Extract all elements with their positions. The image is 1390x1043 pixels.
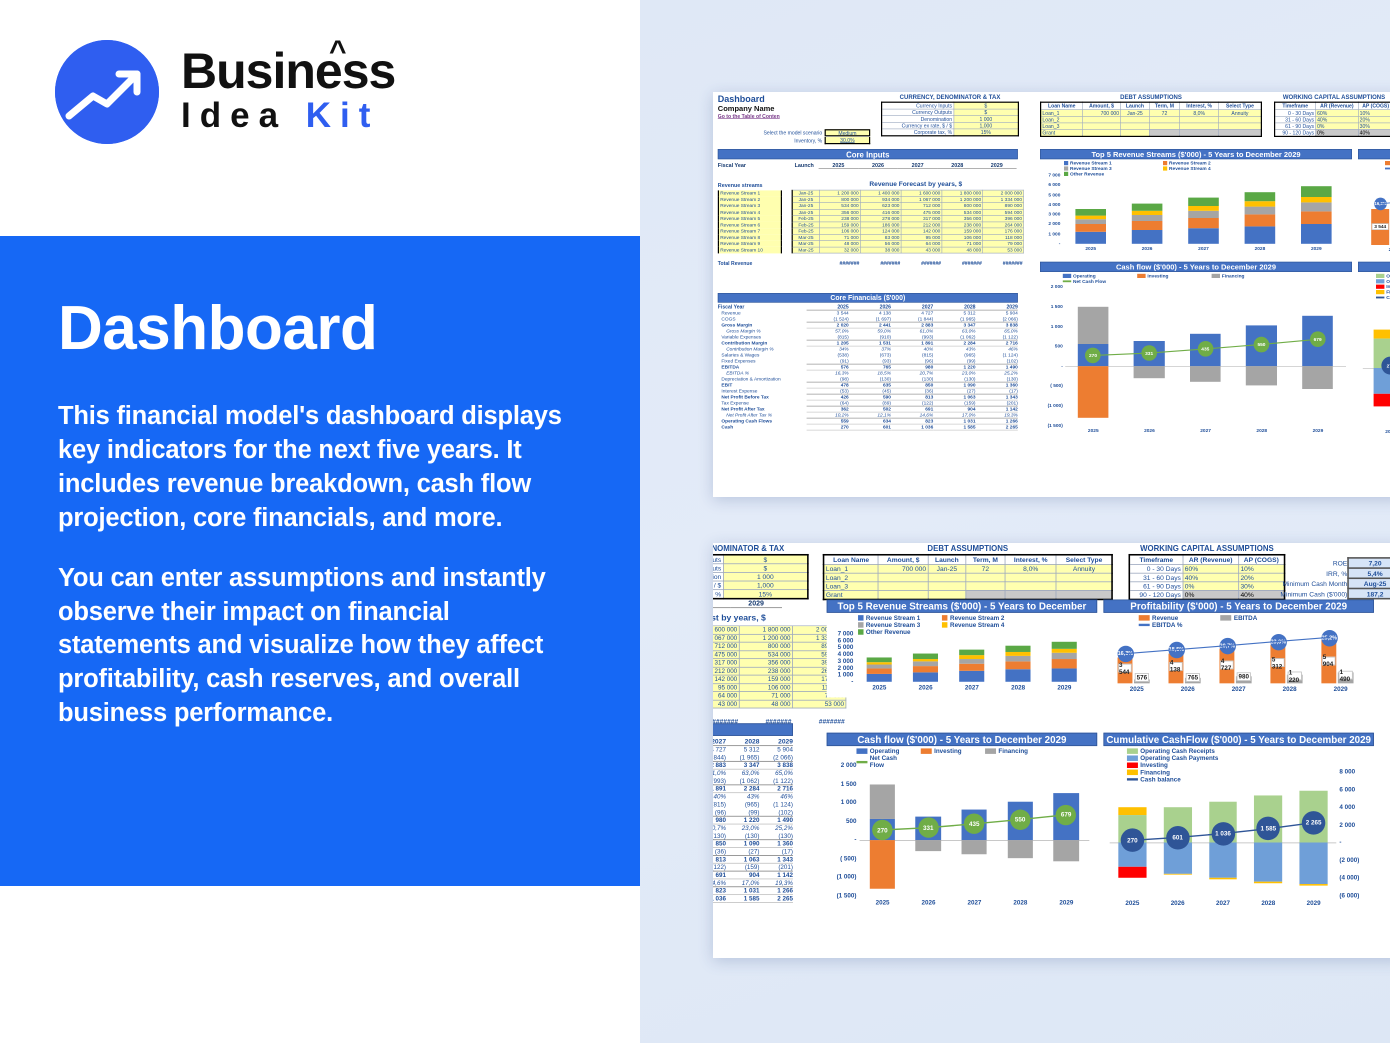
- wc-column-header: Timeframe: [1129, 555, 1183, 564]
- hero-paragraph-1: This financial model's dashboard display…: [58, 400, 584, 536]
- debt-cell[interactable]: Loan_2: [824, 573, 879, 582]
- table-row: Denomination1 000: [882, 116, 1019, 123]
- legend-swatch: [1064, 161, 1068, 165]
- wc-column-header: AP (COGS): [1358, 102, 1390, 109]
- bar-segment: [867, 668, 892, 673]
- chart-cash-flow: Cash flow ($'000) - 5 Years to December …: [827, 733, 1097, 913]
- debt-cell[interactable]: Loan_3: [824, 581, 879, 590]
- debt-column-header: Loan Name: [824, 555, 879, 564]
- x-axis-tick: 2027: [1200, 900, 1245, 907]
- y-axis-tick: 8 000: [1339, 768, 1372, 775]
- financial-row-value: 5 312: [726, 746, 759, 754]
- bar-segment: [1244, 226, 1275, 244]
- table-row: Corporate tax, %15%: [882, 129, 1019, 136]
- currency-value[interactable]: 1 000: [954, 116, 1019, 123]
- bar-segment: [959, 671, 984, 682]
- table-row: Interest Expense(53)(45)(36)(27)(17): [713, 848, 793, 856]
- debt-cell[interactable]: [928, 581, 966, 590]
- legend-label: Revenue: [1152, 614, 1178, 621]
- legend-swatch: [942, 622, 947, 627]
- hero-paragraph-2: You can enter assumptions and instantly …: [58, 562, 584, 732]
- legend-swatch: [1376, 285, 1384, 289]
- bar-segment: [1301, 203, 1332, 212]
- debt-cell[interactable]: Annuity: [1219, 109, 1262, 116]
- kpi-label: IRR, %: [1254, 568, 1348, 578]
- bar-segment: [1075, 224, 1106, 232]
- debt-cell[interactable]: Loan_1: [824, 564, 879, 573]
- financial-row-value: 1 063: [726, 855, 759, 863]
- kpi-label: Minimum Cash ($'000): [1254, 588, 1348, 598]
- bar-segment: [1005, 656, 1030, 661]
- financial-row-value: 2 716: [759, 785, 792, 793]
- brand-name-text: Business: [181, 43, 395, 99]
- dashboard-screenshot-bottom[interactable]: CURRENCY, DENOMINATOR & TAXCurrency Inpu…: [713, 543, 1390, 958]
- scenario-select[interactable]: Medium: [825, 129, 871, 136]
- table-row: Contribution Margin %34%37%40%43%46%: [713, 793, 793, 801]
- legend-swatch: [1163, 166, 1167, 170]
- kpi-row: IRR, %5,4%: [1254, 568, 1390, 578]
- debt-cell[interactable]: 700 000: [878, 564, 928, 573]
- x-axis-tick: 2025: [1110, 900, 1155, 907]
- financial-row-value: 601: [849, 424, 891, 430]
- bubble-net-cash-flow: 331: [918, 818, 938, 838]
- working-capital-section-title: WORKING CAPITAL ASSUMPTIONS: [1274, 94, 1390, 101]
- currency-table: Currency Inputs$Currency Outputs$Denomin…: [713, 554, 809, 599]
- legend-item: EBITDA %: [1139, 621, 1213, 628]
- x-axis-tick: 2025: [1364, 247, 1390, 252]
- debt-cell[interactable]: [966, 590, 1005, 599]
- financial-row-value: (122): [713, 863, 726, 871]
- table-row: Salaries & Wages(538)(673)(815)(965)(1 1…: [713, 801, 793, 809]
- currency-value[interactable]: 1,000: [723, 581, 808, 590]
- revenue-value[interactable]: 48 000: [739, 700, 792, 708]
- y-axis-tick: -: [1041, 241, 1060, 246]
- chart-title-cash-flow: Cash flow ($'000) - 5 Years to December …: [827, 733, 1097, 746]
- table-row: EBITDA5767659801 2201 490: [713, 816, 793, 824]
- circumflex-accent-icon: ^: [329, 37, 346, 66]
- revenue-value[interactable]: 1 800 000: [739, 626, 792, 634]
- x-axis-tick: 2025: [860, 899, 906, 906]
- revenue-value[interactable]: 53 000: [983, 247, 1024, 253]
- inventory-row: Inventory, %30,0%: [718, 137, 870, 144]
- x-axis-tick: 2029: [1291, 900, 1336, 907]
- revenue-value[interactable]: 212 000: [713, 667, 739, 675]
- bar-segment: [867, 662, 892, 664]
- debt-cell[interactable]: [1056, 590, 1112, 599]
- financial-row-value: 2 883: [713, 761, 726, 769]
- revenue-value[interactable]: 800 000: [739, 642, 792, 650]
- wc-ap[interactable]: 10%: [1358, 109, 1390, 116]
- revenue-value[interactable]: 43 000: [901, 247, 942, 253]
- wc-ar[interactable]: 40%: [1183, 573, 1239, 582]
- dashboard-screenshot-top[interactable]: DashboardCompany NameGo to the Table of …: [713, 92, 1390, 497]
- currency-value[interactable]: 15%: [954, 129, 1019, 136]
- revenue-value[interactable]: 71 000: [739, 692, 792, 700]
- x-axis-tick: 2029: [1043, 899, 1089, 906]
- bar-segment: [1188, 211, 1219, 218]
- table-row: Net Profit After Tax %10,2%12,1%14,6%17,…: [713, 879, 793, 887]
- debt-cell[interactable]: Jan-25: [1121, 109, 1150, 116]
- revenue-value[interactable]: 238 000: [739, 667, 792, 675]
- bar-segment: [1188, 206, 1219, 211]
- revenue-value[interactable]: 1 067 000: [713, 634, 739, 642]
- spacer-cell: [781, 247, 792, 253]
- debt-cell[interactable]: Annuity: [1056, 564, 1112, 573]
- financial-row-value: 1 585: [933, 424, 975, 430]
- year-header: 2029: [977, 162, 1017, 169]
- table-row: Net Profit After Tax3625026919041 142: [713, 871, 793, 879]
- financial-row-value: (159): [726, 863, 759, 871]
- table-row: Corporate tax, %15%: [713, 590, 808, 599]
- revenue-launch[interactable]: Mar-25: [792, 247, 819, 253]
- legend-swatch: [1063, 274, 1071, 278]
- legend-swatch: [985, 748, 996, 753]
- currency-value[interactable]: 1 000: [723, 572, 808, 581]
- financial-row-value: (27): [726, 848, 759, 856]
- financial-row-value: (130): [713, 832, 726, 840]
- currency-label: Corporate tax, %: [882, 129, 954, 136]
- table-row: COGS(1 524)(1 697)(1 844)(1 965)(2 066): [713, 754, 793, 762]
- revenue-value[interactable]: 43 000: [713, 700, 739, 708]
- core-financials-title: Core Financials ($'000): [718, 293, 1018, 303]
- kpi-label: Minimum Cash Month: [1254, 578, 1348, 588]
- debt-cell[interactable]: [1005, 581, 1056, 590]
- y-axis-tick: 6 000: [1339, 786, 1372, 793]
- y-axis-tick: 6 000: [1041, 182, 1060, 187]
- table-row: Operating Cash Flows5596348231 0311 266: [713, 887, 793, 895]
- chart-legend-profitability: RevenueEBITDAEBITDA %: [1385, 160, 1390, 171]
- bar-segment: [867, 658, 892, 662]
- y-axis-tick: 6 000: [828, 637, 853, 644]
- bubble-net-cash-flow: 679: [1310, 332, 1326, 348]
- currency-value[interactable]: $: [723, 555, 808, 564]
- debt-cell[interactable]: [1219, 129, 1262, 136]
- revenue-value[interactable]: 32 000: [819, 247, 860, 253]
- legend-label: Revenue Stream 4: [1169, 166, 1211, 171]
- debt-table: Loan NameAmount, $LaunchTerm, MInterest,…: [1040, 102, 1262, 137]
- y-axis-tick: 7 000: [828, 630, 853, 637]
- x-axis-tick: 2028: [1246, 900, 1291, 907]
- year-header: 2028: [726, 737, 759, 745]
- legend-item: Revenue Stream 4: [1163, 166, 1256, 171]
- company-name: Company Name: [718, 105, 780, 113]
- bar-segment: [1075, 209, 1106, 215]
- revenue-value[interactable]: 317 000: [713, 659, 739, 667]
- year-header: 2029: [730, 599, 782, 608]
- currency-label: Currency ex rate, $ / $: [713, 581, 723, 590]
- financial-row-value: (1 965): [726, 754, 759, 762]
- table-row: Tax Expense(64)(89)(122)(159)(201): [713, 863, 793, 871]
- wc-timeframe: 90 - 120 Days: [1129, 590, 1183, 599]
- revenue-value[interactable]: 38 000: [860, 247, 901, 253]
- x-axis-tick: 2027: [951, 899, 997, 906]
- financial-row-value: 1 220: [726, 816, 759, 824]
- y-axis-tick: -: [1339, 839, 1372, 846]
- table-header-row: Loan NameAmount, $LaunchTerm, MInterest,…: [1041, 102, 1262, 109]
- bar-segment: [1052, 649, 1077, 653]
- bar-segment: [1301, 197, 1332, 203]
- bar-segment: [1052, 653, 1077, 659]
- financial-row-value: 823: [713, 887, 726, 895]
- core-financials-section: Core Financials ($'000)Fiscal Year202520…: [713, 723, 793, 903]
- legend-item: EBITDA: [1221, 614, 1295, 621]
- bubble-ebitda-pct: 16,3%: [1117, 646, 1133, 662]
- wc-timeframe: 0 - 30 Days: [1275, 109, 1316, 116]
- chart-cumulative-cashflow: Cumulative CashFlow ($'000) - 5 Years to…: [1103, 733, 1373, 913]
- bar-segment: [959, 655, 984, 658]
- y-axis-tick: 2 000: [828, 762, 856, 769]
- revenue-value[interactable]: 53 000: [792, 700, 845, 708]
- debt-column-header: Amount, $: [1083, 102, 1121, 109]
- table-header-row: Fiscal Year20252026202720282029: [713, 737, 793, 745]
- debt-cell[interactable]: Grant: [824, 590, 879, 599]
- debt-cell[interactable]: 8,0%: [1005, 564, 1056, 573]
- debt-cell[interactable]: 72: [1149, 109, 1179, 116]
- sheet-title: Dashboard: [718, 94, 780, 104]
- table-row: 90 - 120 Days0%40%: [1275, 129, 1390, 136]
- financial-row-value: 1 266: [759, 887, 792, 895]
- revenue-value[interactable]: 142 000: [713, 675, 739, 683]
- debt-cell[interactable]: Jan-25: [928, 564, 966, 573]
- bubble-cash-balance: 601: [1166, 826, 1190, 850]
- wc-ar[interactable]: 0%: [1183, 581, 1239, 590]
- legend-label: Revenue Stream 4: [950, 621, 1004, 628]
- legend-label: Revenue Stream 1: [866, 614, 920, 621]
- bar-segment: [1052, 668, 1077, 682]
- total-revenue-label: Total Revenue: [718, 260, 819, 266]
- wc-ar[interactable]: 60%: [1316, 109, 1359, 116]
- revenue-streams-label: Revenue streams: [718, 182, 763, 188]
- bar-segment: [1052, 659, 1077, 668]
- bar-segment: [1244, 201, 1275, 206]
- revenue-value[interactable]: 534 000: [739, 650, 792, 658]
- debt-cell[interactable]: 8,0%: [1180, 109, 1219, 116]
- x-axis-tick: 2028: [997, 899, 1043, 906]
- revenue-stream-name[interactable]: Revenue Stream 10: [718, 247, 781, 253]
- x-axis-tick: 2029: [1290, 428, 1346, 433]
- chart-legend-revenue-streams: Revenue Stream 1Revenue Stream 2Revenue …: [858, 614, 1089, 635]
- debt-cell[interactable]: 700 000: [1083, 109, 1121, 116]
- y-axis-tick: 1 000: [1041, 324, 1063, 329]
- page-title: Dashboard: [58, 298, 584, 360]
- total-revenue-value: #######: [819, 260, 860, 266]
- bar-segment: [1244, 207, 1275, 215]
- wc-ar[interactable]: 0%: [1183, 590, 1239, 599]
- bar-segment: [867, 674, 892, 682]
- table-row: EBITDA %16,3%18,5%20,7%23,0%25,2%: [713, 824, 793, 832]
- bar-segment: [1075, 219, 1106, 224]
- table-row: Loan_1700 000Jan-25728,0%Annuity: [1041, 109, 1262, 116]
- bar-segment: [959, 664, 984, 671]
- hero-panel: Dashboard This financial model's dashboa…: [0, 236, 640, 886]
- table-row: Fixed Expenses(91)(93)(96)(99)(102): [713, 808, 793, 816]
- year-header: 2026: [858, 162, 898, 169]
- debt-cell[interactable]: [966, 581, 1005, 590]
- bubble-net-cash-flow: 550: [1010, 809, 1030, 829]
- currency-value[interactable]: 15%: [723, 590, 808, 599]
- financial-row-value: (17): [759, 848, 792, 856]
- table-row: EBIT4786358501 0901 360: [713, 840, 793, 848]
- revenue-value[interactable]: 1 600 000: [713, 626, 739, 634]
- revenue-value[interactable]: 64 000: [713, 692, 739, 700]
- debt-cell[interactable]: Grant: [1041, 129, 1083, 136]
- debt-cell[interactable]: [878, 590, 928, 599]
- legend-swatch: [1127, 755, 1138, 760]
- inventory-input[interactable]: 30,0%: [825, 137, 871, 144]
- y-axis-tick: 1 500: [1041, 304, 1063, 309]
- chart-profitability: Profitability ($'000) - 5 Years to Decem…: [1358, 149, 1390, 256]
- table-row: Variable Expenses(815)(910)(993)(1 062)(…: [713, 777, 793, 785]
- financial-row-value: (815): [713, 801, 726, 809]
- chart-title-revenue-streams: Top 5 Revenue Streams ($'000) - 5 Years …: [1040, 149, 1352, 159]
- sheet-header: DashboardCompany NameGo to the Table of …: [718, 94, 780, 119]
- debt-cell[interactable]: [878, 573, 928, 582]
- brand-name-line1: Business ^: [181, 47, 395, 96]
- wc-ar[interactable]: 60%: [1183, 564, 1239, 573]
- legend-label: Operating Cash Receipts: [1140, 748, 1215, 755]
- currency-label: Denomination: [713, 572, 723, 581]
- bar-segment: [1301, 224, 1332, 244]
- chart-title-profitability: Profitability ($'000) - 5 Years to Decem…: [1358, 149, 1390, 159]
- revenue-value[interactable]: 475 000: [713, 650, 739, 658]
- y-axis-tick: (1 500): [828, 892, 856, 899]
- launch-label: Launch: [790, 162, 819, 169]
- currency-section: CURRENCY, DENOMINATOR & TAXCurrency Inpu…: [713, 545, 809, 600]
- bar-segment: [913, 666, 938, 672]
- kpi-value: 5,4%: [1348, 568, 1390, 578]
- bar-segment: [913, 659, 938, 662]
- debt-cell[interactable]: Loan_1: [1041, 109, 1083, 116]
- revenue-forecast-table: Revenue Stream 1Jan-251 200 0001 400 000…: [718, 190, 1024, 254]
- financial-row-value: 25,2%: [759, 824, 792, 832]
- legend-item: Revenue: [1139, 614, 1213, 621]
- wc-ap[interactable]: 40%: [1358, 129, 1390, 136]
- bubble-ebitda-pct: 20,7%: [1219, 638, 1235, 654]
- table-row: Revenue Stream 10Mar-2532 00038 00043 00…: [713, 700, 846, 708]
- bar-segment: [1132, 203, 1163, 210]
- y-axis-tick: 3 000: [1041, 211, 1060, 216]
- bubble-ebitda-pct: 25,2%: [1321, 630, 1337, 646]
- debt-cell[interactable]: [966, 573, 1005, 582]
- core-inputs-title: Core Inputs: [718, 149, 1018, 159]
- data-label-ebitda: 980: [1237, 672, 1251, 681]
- y-axis-tick: 7 000: [1041, 172, 1060, 177]
- debt-column-header: Select Type: [1219, 102, 1262, 109]
- financial-row-value: 61,0%: [713, 769, 726, 777]
- financial-row-value: 43%: [726, 793, 759, 801]
- debt-cell[interactable]: [1005, 590, 1056, 599]
- table-row: Currency Outputs$: [713, 564, 808, 573]
- debt-cell[interactable]: [1083, 129, 1121, 136]
- financial-row-value: 5 904: [759, 746, 792, 754]
- chart-title-revenue-streams: Top 5 Revenue Streams ($'000) - 5 Years …: [827, 599, 1097, 612]
- debt-cell[interactable]: 72: [966, 564, 1005, 573]
- debt-cell[interactable]: [1149, 129, 1179, 136]
- table-of-contents-link[interactable]: Go to the Table of Conten: [718, 113, 780, 119]
- financial-row-value: 3 347: [726, 761, 759, 769]
- plot-area: 8 0006 0004 0002 000-(2 000)(4 000)(6 00…: [1363, 292, 1390, 426]
- kpi-row: Minimum Cash ($'000)187,2: [1254, 588, 1390, 598]
- debt-cell[interactable]: [1056, 581, 1112, 590]
- debt-cell[interactable]: [1056, 573, 1112, 582]
- debt-cell[interactable]: [1121, 129, 1150, 136]
- y-axis-tick: (6 000): [1339, 892, 1372, 899]
- debt-cell[interactable]: [928, 573, 966, 582]
- scenario-row: Select the model scenarioMedium: [718, 129, 870, 136]
- debt-cell[interactable]: [1180, 129, 1219, 136]
- wc-column-header: AR (Revenue): [1316, 102, 1359, 109]
- brand-logo: Business ^ Idea Kit: [55, 40, 395, 144]
- revenue-value[interactable]: 159 000: [739, 675, 792, 683]
- currency-value[interactable]: $: [954, 102, 1019, 109]
- legend-item: Revenue Stream 4: [942, 621, 1018, 628]
- revenue-value[interactable]: 106 000: [739, 683, 792, 691]
- legend-item: EBITDA %: [1385, 166, 1390, 171]
- revenue-value[interactable]: 1 200 000: [739, 634, 792, 642]
- data-label-ebitda: 765: [1186, 673, 1200, 682]
- revenue-value[interactable]: 712 000: [713, 642, 739, 650]
- y-axis-tick: (4 000): [1339, 874, 1372, 881]
- legend-label: EBITDA %: [1152, 621, 1182, 628]
- x-axis-tick: 2029: [1301, 246, 1332, 251]
- bar-segment: [1052, 641, 1077, 648]
- financial-row-value: (1 062): [726, 777, 759, 785]
- plot-area: 2 0001 5001 000500-( 500)(1 000)(1 500)2…: [1065, 287, 1346, 426]
- legend-item: Operating Cash Payments: [1127, 755, 1244, 762]
- financial-row-value: 1 891: [713, 785, 726, 793]
- legend-swatch: [942, 615, 947, 620]
- financial-row-value: 904: [726, 871, 759, 879]
- plot-area: -1 0002 0003 0004 0005 0006 0007 0002025…: [856, 634, 1087, 682]
- bubble-ebitda-pct: 18,5%: [1168, 642, 1184, 658]
- wc-ar[interactable]: 0%: [1316, 129, 1359, 136]
- debt-section: DEBT ASSUMPTIONSLoan NameAmount, $Launch…: [823, 545, 1113, 600]
- year-header: 2025: [819, 162, 859, 169]
- fiscal-year-row: 202720282029: [713, 599, 807, 608]
- year-header: 2027: [898, 162, 938, 169]
- financial-row-value: 2 265: [976, 424, 1018, 430]
- y-axis-tick: 1 000: [1041, 231, 1060, 236]
- revenue-value[interactable]: 95 000: [713, 683, 739, 691]
- financial-row-value: 14,6%: [713, 879, 726, 887]
- legend-label: EBITDA: [1234, 614, 1257, 621]
- financial-row-value: 1 036: [713, 895, 726, 903]
- debt-cell[interactable]: [928, 590, 966, 599]
- wc-column-header: Timeframe: [1275, 102, 1316, 109]
- revenue-value[interactable]: 48 000: [942, 247, 983, 253]
- legend-item: Financing: [985, 748, 1041, 755]
- trend-arrow-icon: [55, 40, 159, 144]
- debt-column-header: Term, M: [966, 555, 1005, 564]
- legend-label: Investing: [1140, 762, 1168, 769]
- revenue-value[interactable]: 356 000: [739, 659, 792, 667]
- debt-cell[interactable]: [878, 581, 928, 590]
- bubble-cash-balance: 1 036: [1211, 822, 1235, 846]
- x-axis-tick: 2025: [1363, 429, 1390, 434]
- brand-kit-text: Kit: [306, 96, 380, 135]
- legend-swatch: [856, 761, 867, 763]
- legend-label: Financing: [998, 748, 1028, 755]
- scenario-label: Select the model scenario: [718, 130, 825, 136]
- debt-cell[interactable]: [1005, 573, 1056, 582]
- financial-row-value: 1 360: [759, 840, 792, 848]
- bar-segment: [1132, 215, 1163, 221]
- table-row: Net Profit Before Tax4265908131 0631 343: [713, 855, 793, 863]
- currency-label: Denomination: [882, 116, 954, 123]
- legend-swatch: [1385, 168, 1390, 170]
- x-axis-tick: 2026: [1121, 428, 1177, 433]
- currency-value[interactable]: $: [723, 564, 808, 573]
